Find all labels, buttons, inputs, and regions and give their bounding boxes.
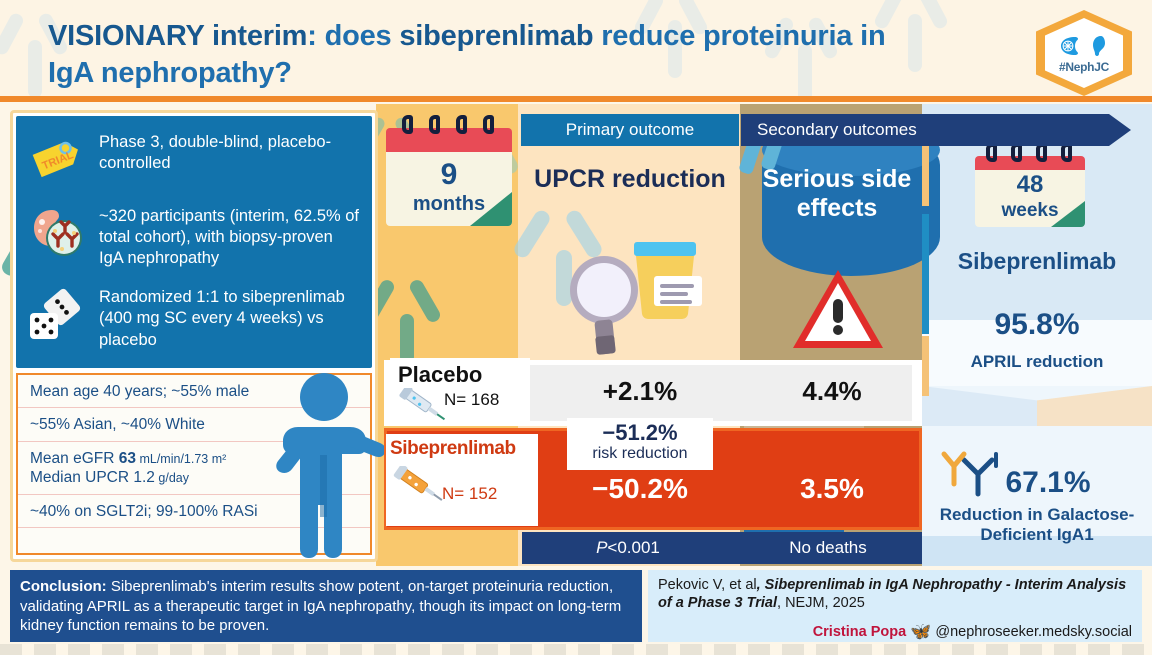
poster-header: VISIONARY interim: does sibeprenlimab re… — [0, 0, 1152, 102]
citation-journal: , NEJM, 2025 — [777, 595, 865, 611]
sibeprenlimab-upcr-value: −50.2% — [540, 473, 740, 505]
group-label-sibeprenlimab: Sibeprenlimab N= 152 — [386, 434, 538, 526]
risk-reduction-caption: risk reduction — [567, 445, 713, 463]
duration-calendar-primary: 9 months — [386, 128, 512, 226]
baseline-egfr-lead: Mean eGFR — [30, 450, 119, 467]
methods-panel: TRIAL Phase 3, double-blind, placebo-con… — [10, 110, 378, 562]
conclusion-text: Sibeprenlimab's interim results show pot… — [20, 578, 621, 634]
banner-secondary-outcomes: Secondary outcomes — [741, 114, 1131, 146]
accent-bar — [922, 214, 929, 334]
list-item: ~320 participants (interim, 62.5% of tot… — [28, 204, 360, 269]
sibeprenlimab-sae-value: 3.5% — [752, 473, 912, 505]
gdiga1-reduction-value: 67.1% — [952, 466, 1144, 500]
baseline-upcr-lead: Median UPCR — [30, 469, 133, 486]
infographic-poster: VISIONARY interim: does sibeprenlimab re… — [0, 0, 1152, 655]
risk-reduction-callout: −51.2% risk reduction — [567, 418, 713, 470]
kidney-icon — [1057, 33, 1111, 59]
header-divider — [0, 96, 1152, 102]
title-colon: : does — [307, 20, 399, 52]
placebo-upcr-value: +2.1% — [540, 376, 740, 407]
banner-secondary-label: Secondary outcomes — [757, 120, 917, 140]
list-item-label: Randomized 1:1 to sibeprenlimab (400 mg … — [99, 285, 360, 350]
gdiga1-reduction-label: Reduction in Galactose-Deficient IgA1 — [930, 505, 1144, 546]
april-reduction-label: APRIL reduction — [930, 352, 1144, 372]
group-name: Sibeprenlimab — [390, 438, 538, 460]
secondary-metric-label: Serious side effects — [744, 165, 930, 223]
p-threshold: <0.001 — [607, 538, 659, 557]
baseline-upcr-unit: g/day — [158, 471, 189, 485]
list-item: Randomized 1:1 to sibeprenlimab (400 mg … — [28, 285, 360, 350]
deaths-note: No deaths — [734, 538, 922, 558]
group-n: N= 152 — [442, 484, 538, 504]
accent-bar — [922, 336, 929, 396]
bottom-decorative-strip — [0, 644, 1152, 655]
trial-tag-icon: TRIAL — [28, 130, 86, 188]
april-reduction-value: 95.8% — [930, 308, 1144, 342]
baseline-text: Mean age 40 years; ~55% male — [30, 383, 249, 400]
baseline-characteristics: Mean age 40 years; ~55% male ~55% Asian,… — [16, 373, 372, 555]
results-footer-strip: P<0.001 No deaths — [522, 532, 922, 564]
page-title: VISIONARY interim: does sibeprenlimab re… — [48, 18, 898, 92]
p-symbol: P — [596, 538, 607, 557]
dice-icon — [28, 285, 86, 343]
warning-triangle-icon — [790, 266, 886, 352]
baseline-text: ~40% on SGLT2i; 99-100% RASi — [30, 503, 258, 520]
banner-primary-label: Primary outcome — [566, 120, 694, 140]
baseline-egfr-value: 63 — [119, 450, 136, 467]
conclusion-label: Conclusion: — [20, 578, 107, 595]
group-label-placebo: Placebo N= 168 — [390, 358, 530, 426]
syringe-icon — [392, 466, 448, 511]
group-n: N= 168 — [444, 390, 530, 410]
credit-handle[interactable]: @nephroseeker.medsky.social — [935, 624, 1132, 640]
nephjc-logo: #NephJC — [1036, 10, 1132, 96]
baseline-egfr-unit: mL/min/1.73 m² — [139, 452, 226, 466]
list-item-label: ~320 participants (interim, 62.5% of tot… — [99, 204, 360, 269]
calendar-rings-icon — [394, 115, 502, 133]
title-drug: sibeprenlimab — [399, 20, 593, 52]
list-item-label: Phase 3, double-blind, placebo-controlle… — [99, 130, 360, 174]
banner-primary-outcome: Primary outcome — [521, 114, 739, 146]
group-name: Placebo — [398, 362, 530, 388]
right-drug-name: Sibeprenlimab — [930, 248, 1144, 275]
baseline-text: ~55% Asian, ~40% White — [30, 416, 205, 433]
risk-reduction-value: −51.2% — [567, 421, 713, 445]
credit-line: Cristina Popa 🦋 @nephroseeker.medsky.soc… — [658, 621, 1132, 642]
bluesky-butterfly-icon: 🦋 — [910, 622, 931, 641]
kidney-biopsy-icon — [28, 204, 86, 262]
magnifier-icon — [560, 250, 660, 365]
p-value: P<0.001 — [522, 538, 734, 558]
syringe-icon — [398, 388, 450, 427]
antibody-decor-icon — [370, 274, 444, 366]
citation-box: Pekovic V, et al, Sibeprenlimab in IgA N… — [648, 570, 1142, 642]
list-item: TRIAL Phase 3, double-blind, placebo-con… — [28, 130, 360, 188]
methods-list: TRIAL Phase 3, double-blind, placebo-con… — [16, 116, 372, 368]
credit-author: Cristina Popa — [813, 624, 906, 640]
placebo-sae-value: 4.4% — [752, 376, 912, 407]
conclusion-box: Conclusion: Sibeprenlimab's interim resu… — [10, 570, 642, 642]
title-study-name: VISIONARY interim — [48, 20, 307, 52]
calendar-number: 9 — [386, 160, 512, 190]
baseline-upcr-value: 1.2 — [133, 469, 155, 486]
calendar-number: 48 — [975, 173, 1085, 197]
citation-authors: Pekovic V, et al — [658, 577, 757, 593]
duration-calendar-secondary: 48 weeks — [975, 156, 1085, 227]
primary-metric-label: UPCR reduction — [526, 165, 734, 194]
logo-text: #NephJC — [1059, 60, 1109, 74]
